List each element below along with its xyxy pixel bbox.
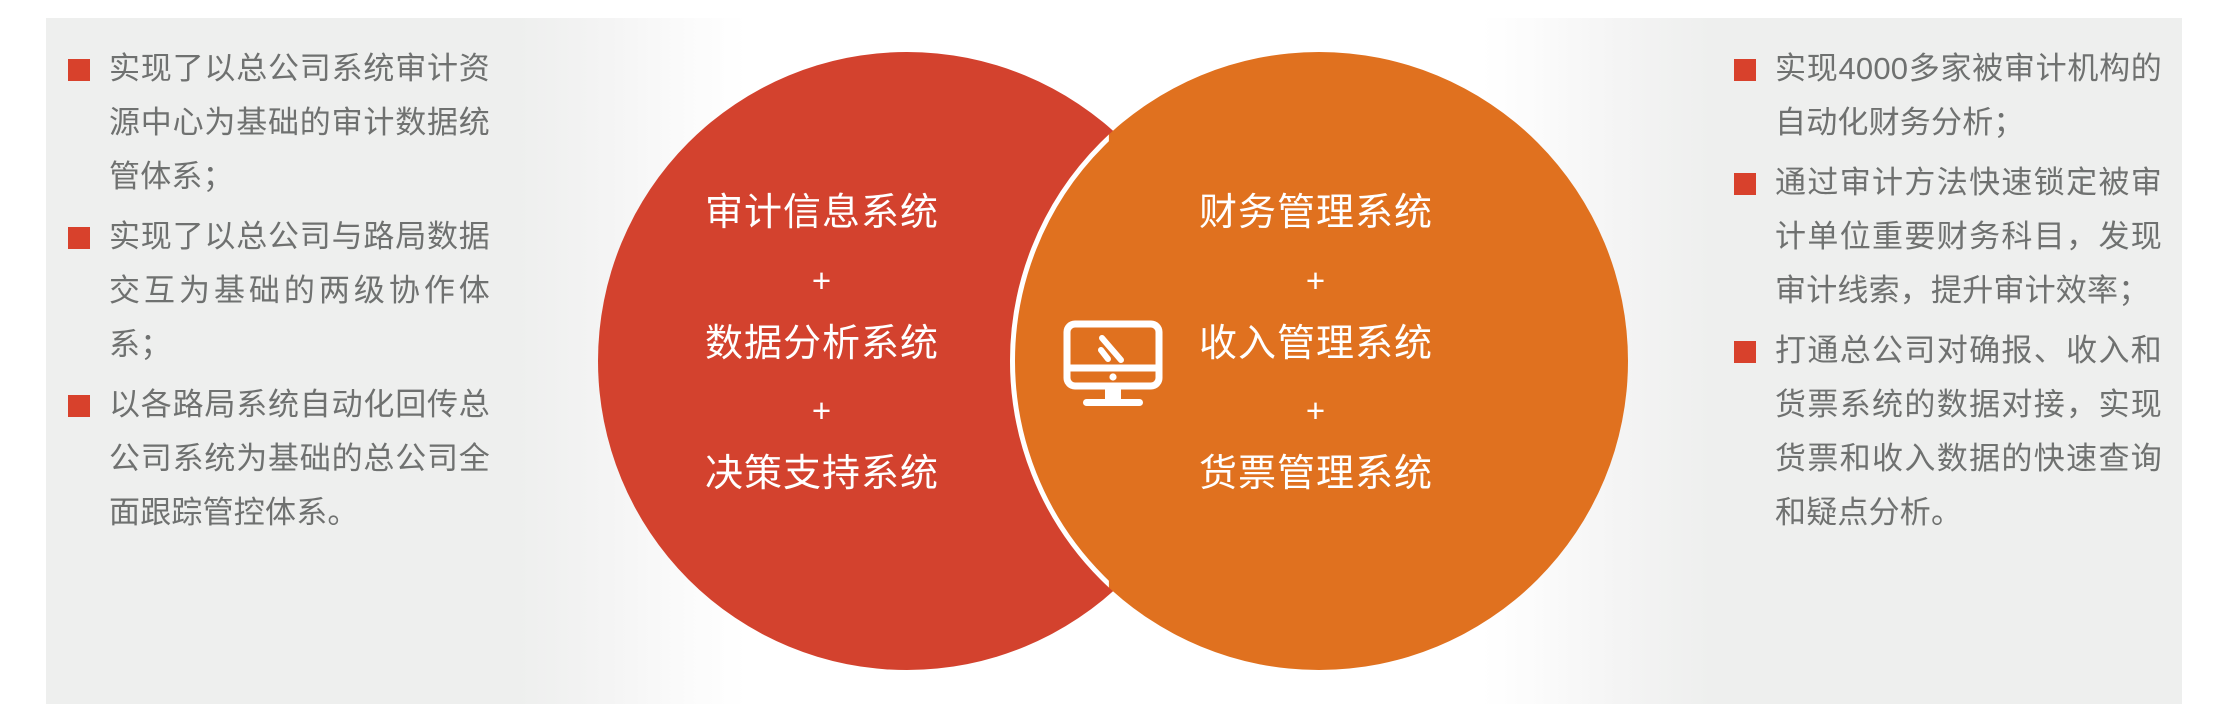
venn-left-item-3: 决策支持系统 bbox=[705, 453, 939, 495]
plus-icon: + bbox=[1106, 264, 1526, 299]
venn-right-item-3: 货票管理系统 bbox=[1199, 453, 1433, 495]
venn-left-item-1: 审计信息系统 bbox=[705, 192, 939, 234]
bullet-text: 以各路局系统自动化回传总公司系统为基础的总公司全面跟踪管控体系。 bbox=[109, 378, 490, 540]
bullet-square-icon bbox=[1734, 59, 1756, 81]
bullet-square-icon bbox=[68, 395, 90, 417]
bullet-square-icon bbox=[68, 59, 90, 81]
bullet-text: 实现了以总公司与路局数据交互为基础的两级协作体系； bbox=[109, 210, 490, 372]
venn-right-label-group: 财务管理系统 + 收入管理系统 + 货票管理系统 bbox=[1106, 194, 1526, 495]
bullet-text: 通过审计方法快速锁定被审计单位重要财务科目，发现审计线索，提升审计效率； bbox=[1775, 156, 2162, 318]
list-item: 以各路局系统自动化回传总公司系统为基础的总公司全面跟踪管控体系。 bbox=[68, 378, 490, 540]
venn-left-label-group: 审计信息系统 + 数据分析系统 + 决策支持系统 bbox=[612, 194, 1032, 495]
bullet-text: 实现了以总公司系统审计资源中心为基础的审计数据统管体系； bbox=[109, 42, 490, 204]
venn-right-item-2: 收入管理系统 bbox=[1199, 323, 1433, 365]
bullet-square-icon bbox=[1734, 341, 1756, 363]
infographic-canvas: 实现了以总公司系统审计资源中心为基础的审计数据统管体系； 实现了以总公司与路局数… bbox=[0, 0, 2226, 722]
plus-icon: + bbox=[612, 394, 1032, 429]
list-item: 实现4000多家被审计机构的自动化财务分析； bbox=[1734, 42, 2162, 150]
right-bullet-column: 实现4000多家被审计机构的自动化财务分析； 通过审计方法快速锁定被审计单位重要… bbox=[1712, 0, 2182, 722]
bullet-square-icon bbox=[1734, 173, 1756, 195]
bullet-square-icon bbox=[68, 227, 90, 249]
list-item: 实现了以总公司与路局数据交互为基础的两级协作体系； bbox=[68, 210, 490, 372]
venn-left-item-2: 数据分析系统 bbox=[705, 323, 939, 365]
list-item: 通过审计方法快速锁定被审计单位重要财务科目，发现审计线索，提升审计效率； bbox=[1734, 156, 2162, 318]
list-item: 打通总公司对确报、收入和货票系统的数据对接，实现货票和收入数据的快速查询和疑点分… bbox=[1734, 324, 2162, 540]
list-item: 实现了以总公司系统审计资源中心为基础的审计数据统管体系； bbox=[68, 42, 490, 204]
plus-icon: + bbox=[1106, 394, 1526, 429]
venn-right-item-1: 财务管理系统 bbox=[1199, 192, 1433, 234]
venn-diagram: 审计信息系统 + 数据分析系统 + 决策支持系统 财务管理系统 + 收入管理系统… bbox=[598, 22, 1628, 700]
plus-icon: + bbox=[612, 264, 1032, 299]
bullet-text: 打通总公司对确报、收入和货票系统的数据对接，实现货票和收入数据的快速查询和疑点分… bbox=[1775, 324, 2162, 540]
bullet-text: 实现4000多家被审计机构的自动化财务分析； bbox=[1775, 42, 2162, 150]
monitor-icon bbox=[1063, 320, 1163, 412]
left-bullet-column: 实现了以总公司系统审计资源中心为基础的审计数据统管体系； 实现了以总公司与路局数… bbox=[46, 0, 516, 722]
